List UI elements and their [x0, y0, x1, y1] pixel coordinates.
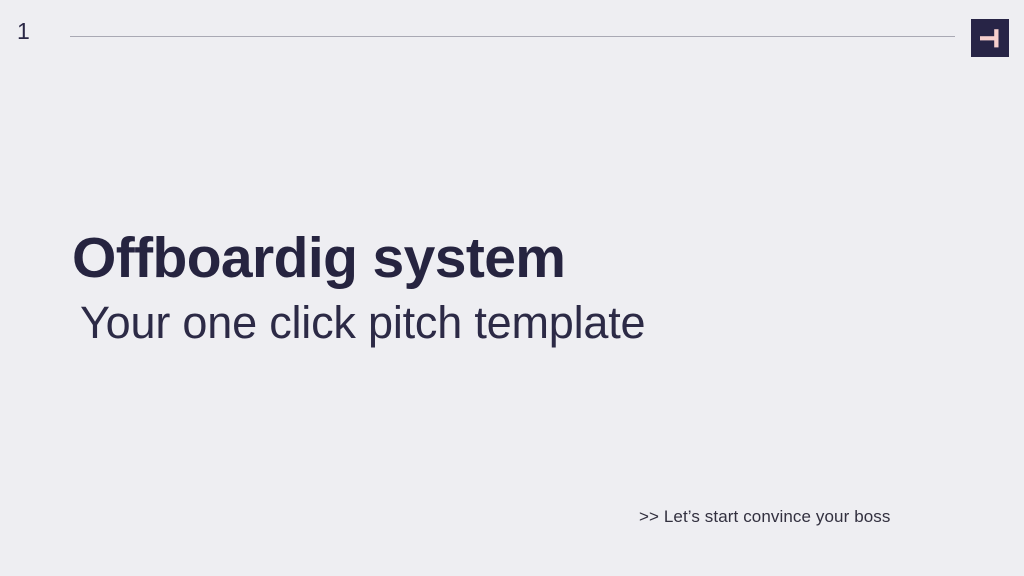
slide-number: 1 [17, 20, 30, 43]
header-divider [70, 36, 955, 37]
page-subtitle: Your one click pitch template [0, 291, 1024, 349]
page-title: Offboardig system [0, 225, 1024, 291]
presentation-slide: 1 Offboardig system Your one click pitch… [0, 0, 1024, 576]
title-block: Offboardig system Your one click pitch t… [0, 225, 1024, 349]
footer-caption: >> Let’s start convince your boss [639, 506, 891, 528]
left-tack-icon [971, 19, 1009, 57]
brand-logo [971, 19, 1009, 57]
